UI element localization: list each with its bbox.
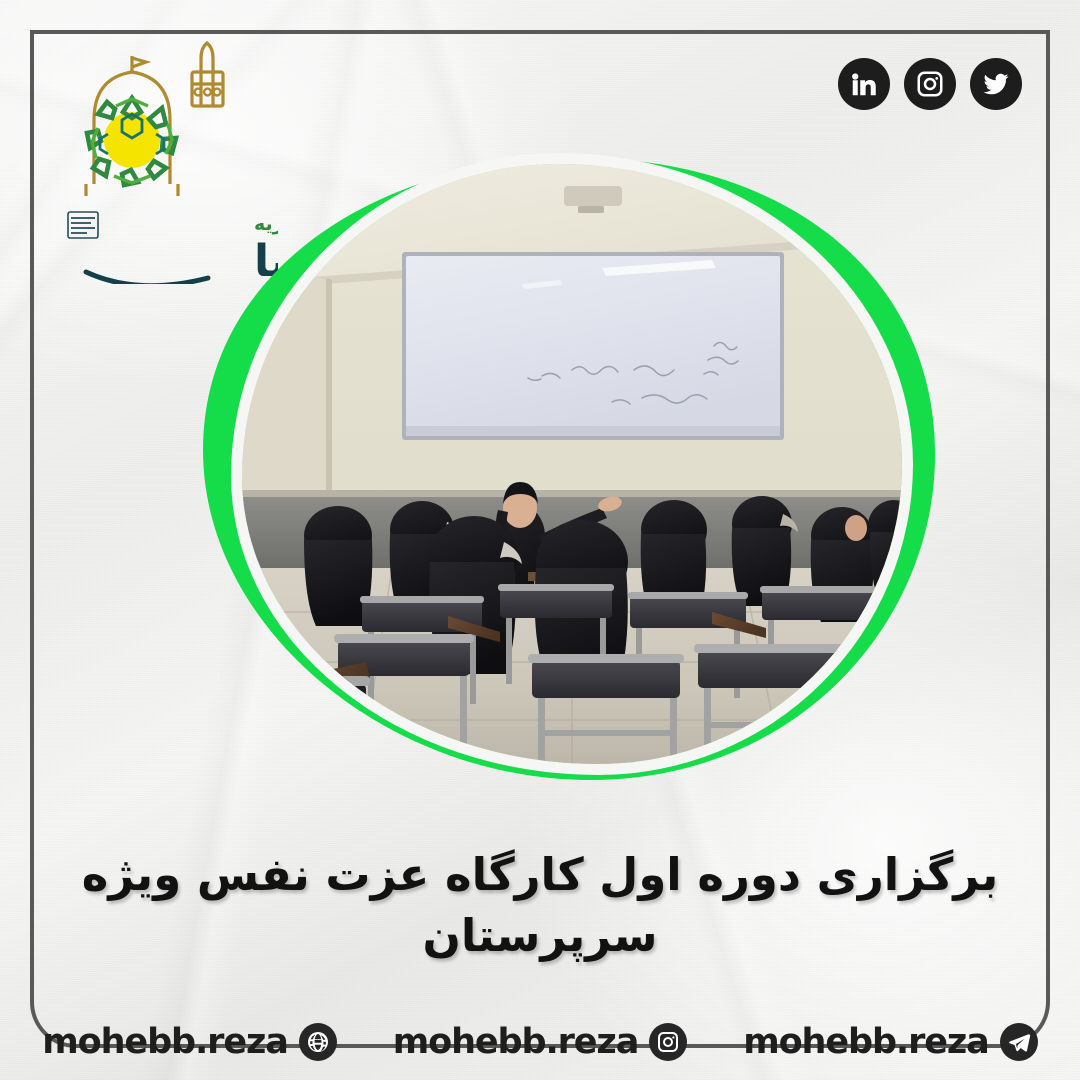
poster-canvas: مؤسسه خیریه محبان الرضا bbox=[0, 0, 1080, 1080]
footer-handle-website: mohebb.reza bbox=[42, 1022, 287, 1062]
social-linkedin-button[interactable] bbox=[838, 58, 890, 110]
classroom-photo-content bbox=[242, 164, 902, 764]
footer-item-website[interactable]: mohebb.reza bbox=[42, 1022, 336, 1062]
social-links[interactable] bbox=[838, 58, 1022, 110]
page-title: برگزاری دوره اول کارگاه عزت نفس ویژه سرپ… bbox=[70, 845, 1010, 967]
instagram-icon bbox=[649, 1023, 687, 1061]
footer-handle-instagram: mohebb.reza bbox=[393, 1022, 638, 1062]
event-photo bbox=[242, 164, 902, 764]
instagram-icon bbox=[915, 69, 945, 99]
telegram-icon bbox=[1000, 1023, 1038, 1061]
footer-handle-telegram: mohebb.reza bbox=[743, 1022, 988, 1062]
hero-artwork bbox=[200, 150, 940, 790]
linkedin-icon bbox=[849, 69, 879, 99]
footer-item-telegram[interactable]: mohebb.reza bbox=[743, 1022, 1037, 1062]
footer-handles: mohebb.reza mohebb.reza mohebb.reza bbox=[0, 1022, 1080, 1062]
social-twitter-button[interactable] bbox=[970, 58, 1022, 110]
social-instagram-button[interactable] bbox=[904, 58, 956, 110]
twitter-icon bbox=[981, 69, 1011, 99]
footer-item-instagram[interactable]: mohebb.reza bbox=[393, 1022, 687, 1062]
globe-icon bbox=[299, 1023, 337, 1061]
